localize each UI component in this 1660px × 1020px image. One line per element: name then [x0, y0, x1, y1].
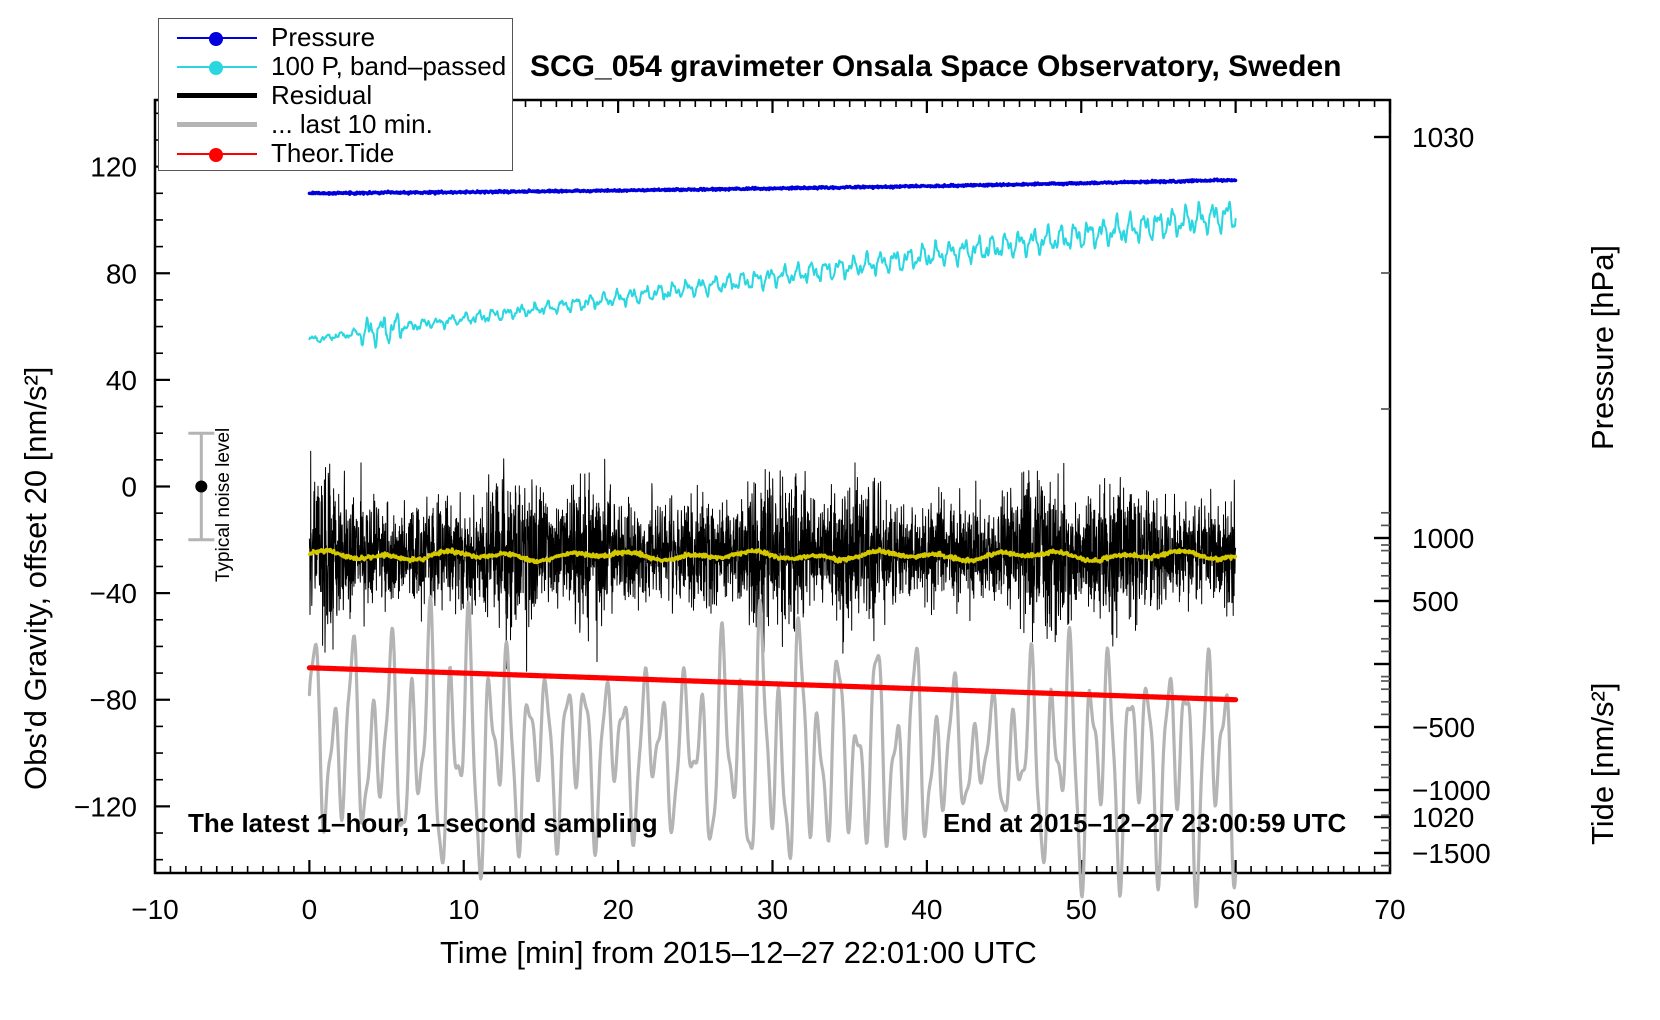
- legend-swatch-4: [177, 115, 257, 135]
- x-tick-label: 50: [1066, 894, 1097, 925]
- y-tick-label: 120: [90, 152, 137, 183]
- tide-tick-label: −500: [1412, 712, 1475, 743]
- x-tick-label: 70: [1374, 894, 1405, 925]
- x-tick-label: 10: [448, 894, 479, 925]
- tide-tick-label: −1000: [1412, 775, 1491, 806]
- chart-legend: Pressure100 P, band–passedResidual... la…: [158, 18, 513, 171]
- tide-tick-label: 500: [1412, 586, 1459, 617]
- legend-swatch-3: [177, 86, 257, 106]
- y-tick-label: 80: [106, 258, 137, 289]
- y-tick-label: −120: [74, 791, 137, 822]
- bottom-right-note: End at 2015–12–27 23:00:59 UTC: [943, 808, 1346, 839]
- series-band-passed: [309, 202, 1235, 348]
- y-tick-label: 40: [106, 365, 137, 396]
- legend-line-icon: [177, 93, 257, 98]
- legend-label: ... last 10 min.: [271, 109, 433, 140]
- legend-swatch-5: [177, 144, 257, 164]
- x-tick-label: 0: [302, 894, 318, 925]
- pressure-tick-label: 1020: [1412, 802, 1474, 833]
- x-tick-label: 20: [603, 894, 634, 925]
- legend-swatch-1: [177, 28, 257, 48]
- pressure-tick-label: 1030: [1412, 122, 1474, 153]
- tide-tick-label: −1500: [1412, 838, 1491, 869]
- legend-label: Theor.Tide: [271, 138, 394, 169]
- legend-label: Residual: [271, 80, 372, 111]
- y-tick-label: −40: [90, 578, 138, 609]
- bottom-left-note: The latest 1–hour, 1–second sampling: [188, 808, 658, 839]
- legend-label: 100 P, band–passed: [271, 51, 506, 82]
- series-pressure: [309, 179, 1235, 194]
- legend-item[interactable]: ... last 10 min.: [159, 110, 512, 139]
- legend-line-icon: [177, 122, 257, 127]
- y-tick-label: −80: [90, 685, 138, 716]
- legend-label: Pressure: [271, 22, 375, 53]
- x-tick-label: 30: [757, 894, 788, 925]
- tide-tick-label: 1000: [1412, 523, 1474, 554]
- legend-item[interactable]: Theor.Tide: [159, 139, 512, 168]
- legend-item[interactable]: Residual: [159, 81, 512, 110]
- noise-marker: [195, 481, 207, 493]
- legend-marker-icon: [209, 148, 223, 162]
- x-tick-label: 40: [911, 894, 942, 925]
- legend-marker-icon: [209, 32, 223, 46]
- y-tick-label: 0: [121, 472, 137, 503]
- noise-level-label: Typical noise level: [213, 382, 235, 582]
- legend-item[interactable]: Pressure: [159, 23, 512, 52]
- legend-swatch-2: [177, 57, 257, 77]
- legend-marker-icon: [209, 61, 223, 75]
- x-tick-label: −10: [131, 894, 179, 925]
- legend-item[interactable]: 100 P, band–passed: [159, 52, 512, 81]
- x-tick-label: 60: [1220, 894, 1251, 925]
- chart-page: SCG_054 gravimeter Onsala Space Observat…: [0, 0, 1660, 1020]
